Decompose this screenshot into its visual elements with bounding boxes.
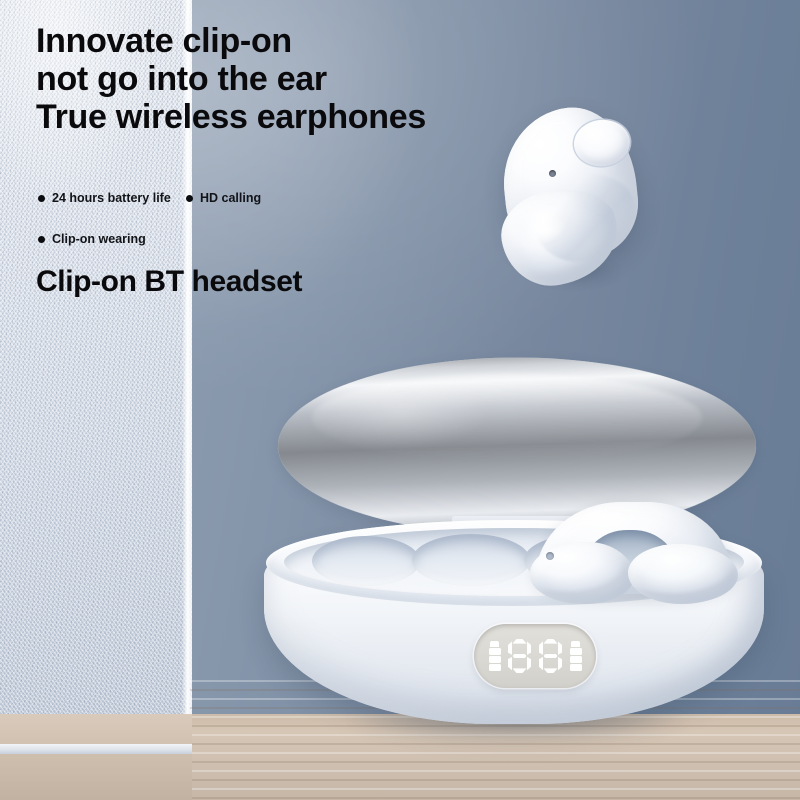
feature-row-2: Clip-on wearing — [38, 231, 368, 247]
headline-line-2: not go into the ear — [36, 60, 556, 98]
case-cavity-middle — [412, 534, 530, 586]
baseboard-left — [0, 744, 192, 754]
headline: Innovate clip-on not go into the ear Tru… — [36, 22, 556, 136]
battery-icon-right — [570, 641, 582, 671]
earbud-contact-nub — [546, 552, 554, 560]
product-tagline: Clip-on BT headset — [36, 265, 302, 299]
feature-label: 24 hours battery life — [52, 190, 171, 206]
floor-left-strip — [0, 714, 192, 800]
feature-item-clip-on: Clip-on wearing — [38, 231, 146, 247]
earbud-right-pod — [628, 544, 738, 604]
feature-list: 24 hours battery life HD calling Clip-on… — [38, 190, 368, 247]
earbud-left-pod — [530, 542, 634, 604]
feature-item-hd-calling: HD calling — [186, 190, 261, 206]
led-battery-display — [474, 624, 596, 688]
product-advertisement-banner: Innovate clip-on not go into the ear Tru… — [0, 0, 800, 800]
bullet-dot-icon — [38, 236, 45, 243]
charging-case — [252, 356, 772, 776]
case-cavity-left — [312, 536, 420, 586]
battery-icon-left — [489, 641, 501, 671]
bullet-dot-icon — [186, 195, 193, 202]
led-digit-1 — [508, 639, 532, 673]
feature-row-1: 24 hours battery life HD calling — [38, 190, 368, 206]
headline-line-3: True wireless earphones — [36, 98, 556, 136]
led-digit-2 — [539, 639, 563, 673]
floating-earbud — [496, 104, 656, 294]
feature-label: HD calling — [200, 190, 261, 206]
microphone-hole-icon — [549, 170, 556, 177]
headline-line-1: Innovate clip-on — [36, 22, 556, 60]
seated-earbud — [520, 496, 750, 612]
feature-label: Clip-on wearing — [52, 231, 146, 247]
bullet-dot-icon — [38, 195, 45, 202]
feature-item-battery: 24 hours battery life — [38, 190, 186, 206]
